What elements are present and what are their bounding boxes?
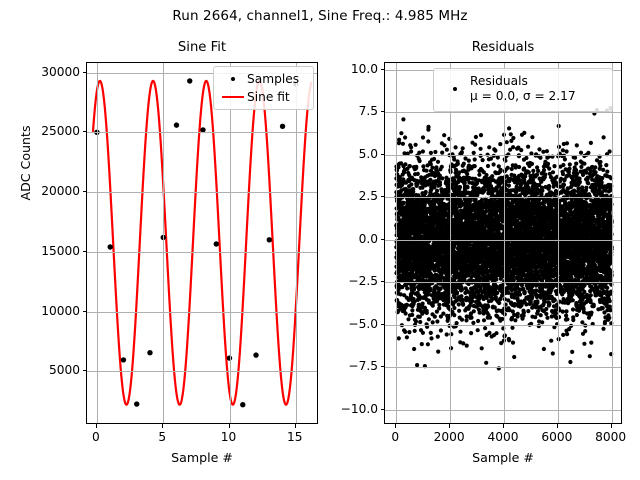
sine-fit-plot-area [87, 63, 318, 424]
residual-point [402, 201, 406, 205]
residuals-axes [384, 62, 622, 424]
sample-point [108, 244, 113, 249]
residual-point [426, 125, 430, 129]
residual-point [452, 306, 456, 310]
residual-point [470, 299, 474, 303]
residual-point [406, 317, 410, 321]
residual-point [484, 173, 488, 177]
residual-point [427, 317, 431, 321]
residual-point [473, 143, 477, 147]
sample-point [267, 237, 272, 242]
residual-point [480, 346, 484, 350]
residual-point [522, 131, 526, 135]
residual-point [403, 162, 407, 166]
residual-point [511, 341, 515, 345]
residual-point [493, 149, 497, 153]
residual-point [404, 311, 408, 315]
residual-point [499, 168, 503, 172]
residual-point [523, 290, 527, 294]
y-tick-mark [83, 311, 87, 312]
residual-point [460, 318, 464, 322]
residual-point [476, 328, 480, 332]
y-tick-mark [83, 251, 87, 252]
sample-point [253, 352, 258, 357]
residual-point [418, 320, 422, 324]
residual-point [412, 347, 416, 351]
residual-point [461, 341, 465, 345]
residual-point [496, 155, 500, 159]
residual-point [454, 145, 458, 149]
residual-point [490, 174, 494, 178]
residual-point [526, 309, 530, 313]
residual-point [469, 331, 473, 335]
residual-point [479, 147, 483, 151]
residual-point [429, 336, 433, 340]
residual-point [513, 318, 517, 322]
sample-point [121, 357, 126, 362]
residual-point [482, 188, 486, 192]
legend-label-samples: Samples [247, 72, 299, 86]
residual-point [465, 344, 469, 348]
residual-point [445, 332, 449, 336]
residual-point [458, 185, 462, 189]
residual-point [479, 133, 483, 137]
residual-point [497, 301, 501, 305]
samples-marker-icon [219, 77, 247, 81]
residual-point [516, 312, 520, 316]
residual-point [457, 309, 461, 313]
residual-point [397, 141, 401, 145]
residual-point [425, 311, 429, 315]
residual-point [421, 135, 425, 139]
residual-point [435, 189, 439, 193]
residual-point [459, 294, 463, 298]
residual-point [409, 145, 413, 149]
residual-point [436, 335, 440, 339]
y-tick-label: 30000 [20, 65, 80, 79]
residual-point [505, 140, 509, 144]
residual-point [409, 149, 413, 153]
gridline-horizontal [87, 192, 317, 193]
residual-point [421, 164, 425, 168]
residual-point [462, 162, 466, 166]
residual-point [526, 145, 530, 149]
residual-point [510, 326, 514, 330]
residual-point [426, 139, 430, 143]
residual-point [399, 292, 403, 296]
residual-point [486, 164, 490, 168]
residual-point [460, 150, 464, 154]
gridline-vertical [163, 63, 164, 423]
y-tick-label: 15000 [20, 244, 80, 258]
gridline-horizontal [87, 252, 317, 253]
residual-point [486, 305, 490, 309]
residual-point [403, 330, 407, 334]
residual-point [478, 311, 482, 315]
residual-point [512, 355, 516, 359]
sine-fit-xaxis-label: Sample # [86, 450, 318, 465]
residual-point [437, 303, 441, 307]
residual-point [432, 157, 436, 161]
residual-point [473, 164, 477, 168]
residual-point [507, 338, 511, 342]
residual-point [433, 150, 437, 154]
residual-point [524, 156, 528, 160]
x-tick-label: 10 [221, 430, 237, 444]
residual-point [421, 331, 425, 335]
gridline-vertical [296, 63, 297, 423]
residual-point [399, 131, 403, 135]
sample-point [214, 241, 219, 246]
x-tick-mark [295, 424, 296, 428]
residual-point [414, 165, 418, 169]
residual-point [436, 160, 440, 164]
residual-point [466, 185, 470, 189]
residual-point [519, 148, 523, 152]
residual-point [473, 157, 477, 161]
residual-point [413, 329, 417, 333]
y-tick-mark [83, 72, 87, 73]
residual-point [511, 145, 515, 149]
residual-point [469, 316, 473, 320]
legend-label-sine-fit: Sine fit [247, 90, 290, 104]
residual-point [460, 288, 464, 292]
residual-point [461, 146, 465, 150]
residual-point [507, 184, 511, 188]
residual-point [434, 165, 438, 169]
residual-point [488, 316, 492, 320]
sine-fit-axes [86, 62, 318, 424]
y-tick-label: 5000 [20, 363, 80, 377]
residual-point [414, 319, 418, 323]
residual-point [403, 135, 407, 139]
residual-point [401, 142, 405, 146]
residual-point [467, 159, 471, 163]
residual-point [482, 318, 486, 322]
residual-point [474, 135, 478, 139]
figure-suptitle: Run 2664, channel1, Sine Freq.: 4.985 MH… [0, 8, 640, 24]
residual-point [440, 165, 444, 169]
sample-point [280, 124, 285, 129]
sample-point [174, 122, 179, 127]
residual-point [426, 342, 430, 346]
residual-point [440, 176, 444, 180]
residual-point [442, 143, 446, 147]
residual-point [457, 170, 461, 174]
sine-fit-line-icon [219, 96, 247, 98]
residual-point [507, 126, 511, 130]
residual-point [511, 136, 515, 140]
residual-point [405, 335, 409, 339]
residual-point [412, 286, 416, 290]
gridline-vertical [230, 63, 231, 423]
residual-point [481, 158, 485, 162]
residual-point [436, 350, 440, 354]
residual-point [498, 142, 502, 146]
sine-fit-yaxis-label: ADC Counts [18, 83, 33, 243]
residual-point [421, 149, 425, 153]
residual-point [435, 319, 439, 323]
residual-point [405, 303, 409, 307]
residual-point [461, 298, 465, 302]
residual-point [506, 166, 510, 170]
residual-point [509, 132, 513, 136]
sine-fit-title: Sine Fit [86, 40, 318, 55]
residual-point [424, 190, 428, 194]
residual-point [411, 187, 415, 191]
residual-point [476, 319, 480, 323]
residual-point [429, 331, 433, 335]
y-tick-mark [83, 131, 87, 132]
residual-point [414, 143, 418, 147]
residual-point [487, 331, 491, 335]
residual-point [492, 162, 496, 166]
residual-point [439, 328, 443, 332]
residual-point [421, 302, 425, 306]
residual-point [495, 291, 499, 295]
residual-point [477, 173, 481, 177]
gridline-vertical [97, 63, 98, 423]
residual-point [420, 342, 424, 346]
residual-point [465, 172, 469, 176]
residual-point [452, 313, 456, 317]
x-tick-mark [96, 424, 97, 428]
residual-point [484, 361, 488, 365]
residual-point [510, 167, 514, 171]
residual-point [517, 165, 521, 169]
sample-point [134, 401, 139, 406]
legend-entry-samples: Samples [219, 72, 306, 86]
residual-point [401, 117, 405, 121]
gridline-horizontal [87, 132, 317, 133]
residual-point [487, 145, 491, 149]
x-tick-mark [229, 424, 230, 428]
residual-point [433, 315, 437, 319]
residual-point [407, 330, 411, 334]
residuals-title: Residuals [384, 40, 622, 55]
gridline-horizontal [87, 371, 317, 372]
residual-point [522, 310, 526, 314]
residual-point [458, 330, 462, 334]
residual-point [409, 182, 413, 186]
residual-point [438, 180, 442, 184]
y-tick-label: 10000 [20, 304, 80, 318]
residual-point [416, 172, 420, 176]
figure-canvas: Run 2664, channel1, Sine Freq.: 4.985 MH… [0, 0, 640, 480]
residual-point [461, 303, 465, 307]
residual-point [425, 169, 429, 173]
residual-point [410, 308, 414, 312]
residual-point [472, 309, 476, 313]
residual-point [518, 293, 522, 297]
residual-point [457, 302, 461, 306]
residual-point [494, 331, 498, 335]
y-tick-mark [83, 370, 87, 371]
residual-point [464, 318, 468, 322]
residual-point [455, 290, 459, 294]
residual-point [439, 286, 443, 290]
sample-point [187, 78, 192, 83]
legend-entry-sine-fit: Sine fit [219, 90, 306, 104]
residual-point [397, 336, 401, 340]
residual-point [408, 164, 412, 168]
residual-point [456, 162, 460, 166]
x-tick-mark [162, 424, 163, 428]
residual-point [418, 159, 422, 163]
x-tick-label: 5 [158, 430, 166, 444]
gridline-horizontal [87, 312, 317, 313]
residual-point [430, 166, 434, 170]
x-tick-label: 0 [92, 430, 100, 444]
residual-point [441, 312, 445, 316]
residual-point [429, 287, 433, 291]
residual-point [484, 210, 488, 214]
residual-point [527, 170, 531, 174]
y-tick-mark [83, 191, 87, 192]
residual-point [442, 133, 446, 137]
sample-point [147, 350, 152, 355]
residual-point [483, 326, 487, 330]
sine-fit-legend[interactable]: Samples Sine fit [213, 66, 314, 110]
x-tick-label: 15 [287, 430, 303, 444]
residual-point [410, 313, 414, 317]
residual-point [465, 314, 469, 318]
sample-point [240, 402, 245, 407]
residual-point [405, 286, 409, 290]
residual-point [445, 148, 449, 152]
